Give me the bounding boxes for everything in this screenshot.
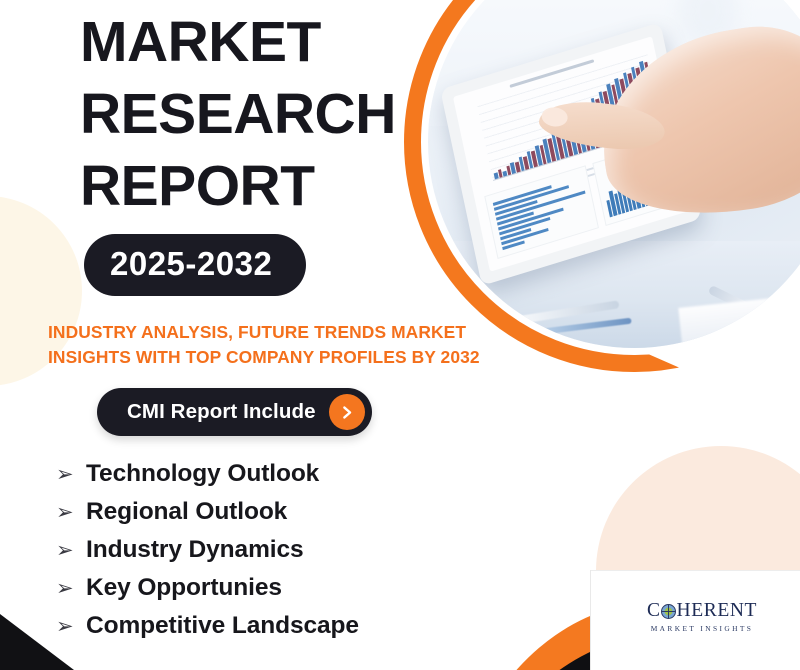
title-line-3: REPORT	[80, 150, 440, 222]
arrow-bullet-icon: ➢	[56, 533, 86, 569]
list-item: ➢ Competitive Landscape	[56, 608, 496, 645]
arrow-bullet-icon: ➢	[56, 571, 86, 607]
list-item: ➢ Technology Outlook	[56, 456, 496, 493]
cta-label: CMI Report Include	[127, 400, 316, 424]
subtitle-line-2: INSIGHTS WITH TOP COMPANY PROFILES BY 20…	[48, 345, 568, 370]
logo-wordmark: C HERENT	[637, 601, 767, 621]
list-item-label: Technology Outlook	[86, 456, 319, 492]
coherent-market-insights-logo: C HERENT MARKET INSIGHTS	[637, 601, 767, 633]
list-item: ➢ Key Opportunies	[56, 570, 496, 607]
list-item-label: Key Opportunies	[86, 570, 282, 606]
title-line-2: RESEARCH	[80, 78, 440, 150]
chevron-right-icon[interactable]	[329, 394, 365, 430]
page-title: MARKET RESEARCH REPORT	[80, 6, 440, 222]
arrow-bullet-icon: ➢	[56, 457, 86, 493]
list-item-label: Competitive Landscape	[86, 608, 359, 644]
list-item: ➢ Industry Dynamics	[56, 532, 496, 569]
subtitle-line-1: INDUSTRY ANALYSIS, FUTURE TRENDS MARKET	[48, 320, 568, 345]
logo-letter-c: C	[647, 601, 661, 621]
fingernail	[541, 106, 569, 128]
globe-icon	[661, 604, 676, 619]
list-item: ➢ Regional Outlook	[56, 494, 496, 531]
list-item-label: Industry Dynamics	[86, 532, 304, 568]
report-includes-list: ➢ Technology Outlook ➢ Regional Outlook …	[56, 456, 496, 646]
market-research-report-poster: MARKET RESEARCH REPORT 2025-2032 INDUSTR…	[0, 0, 800, 670]
title-line-1: MARKET	[80, 6, 440, 78]
arrow-bullet-icon: ➢	[56, 609, 86, 645]
year-range-badge: 2025-2032	[84, 234, 306, 296]
logo-panel-left-edge	[590, 570, 591, 670]
logo-tagline: MARKET INSIGHTS	[637, 624, 767, 633]
arrow-bullet-icon: ➢	[56, 495, 86, 531]
subtitle: INDUSTRY ANALYSIS, FUTURE TRENDS MARKET …	[48, 320, 568, 370]
hero-photo	[404, 0, 800, 372]
list-item-label: Regional Outlook	[86, 494, 287, 530]
logo-name-rest: HERENT	[677, 601, 758, 621]
logo-panel-top-edge	[590, 570, 800, 571]
cmi-report-include-button[interactable]: CMI Report Include	[97, 388, 372, 436]
